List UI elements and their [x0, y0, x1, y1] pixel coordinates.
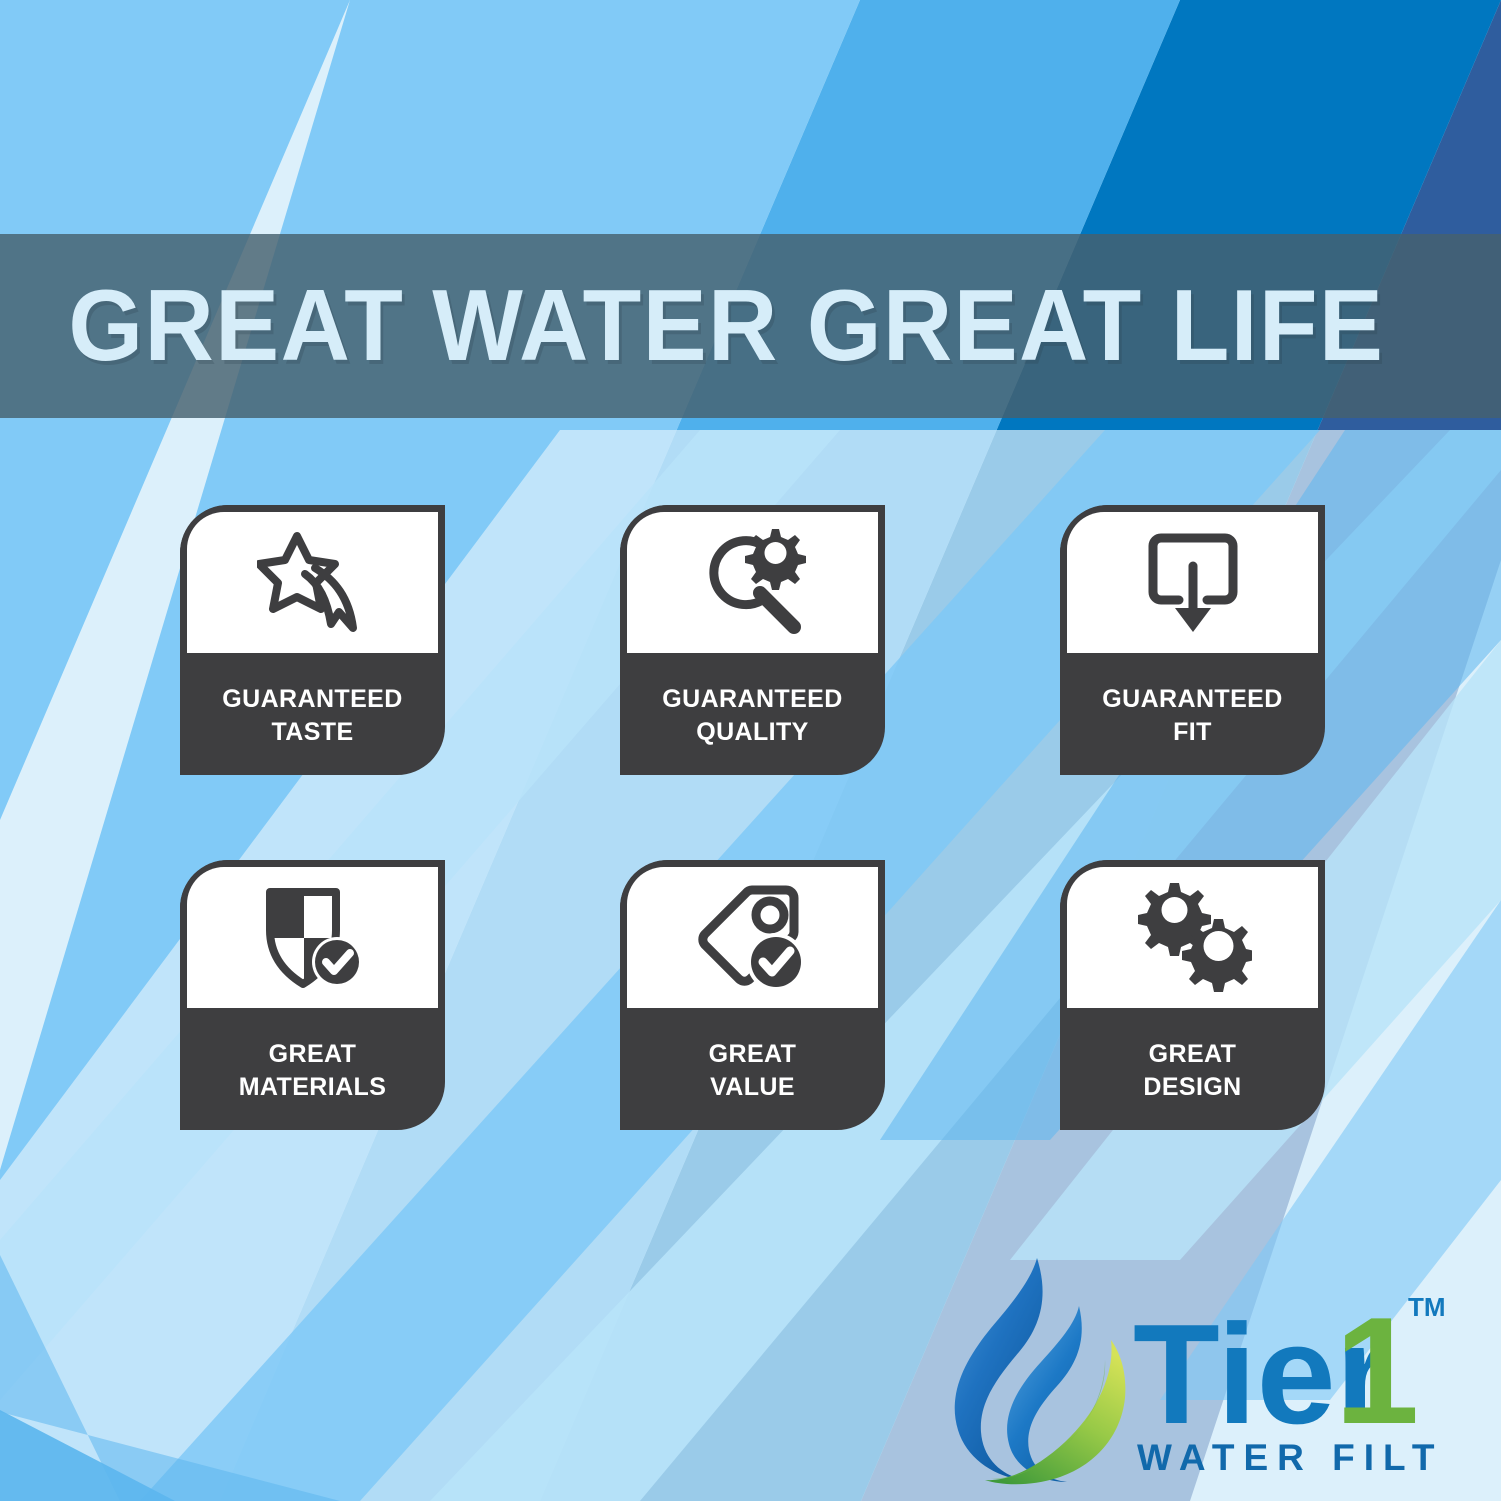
- logo-trademark: TM: [1408, 1292, 1445, 1322]
- feature-card-grid: GUARANTEED TASTE: [180, 505, 1345, 1130]
- feature-card-guaranteed-quality[interactable]: GUARANTEED QUALITY: [620, 505, 885, 775]
- feature-card-guaranteed-taste[interactable]: GUARANTEED TASTE: [180, 505, 445, 775]
- logo-wordmark: Tier 1 TM WATER FILTERS: [1133, 1286, 1445, 1478]
- card-label-line1: GUARANTEED: [222, 685, 402, 715]
- card-label-line1: GREAT: [1149, 1040, 1237, 1070]
- card-label: GUARANTEED FIT: [1060, 657, 1325, 775]
- insert-fit-arrow-icon: [1143, 528, 1243, 638]
- card-icon-area: [180, 860, 445, 1008]
- card-label-line2: TASTE: [271, 718, 353, 748]
- price-tag-check-icon: [694, 882, 812, 994]
- card-label: GREAT MATERIALS: [180, 1012, 445, 1130]
- logo-brand-number: 1: [1335, 1286, 1420, 1456]
- card-label-line2: DESIGN: [1143, 1073, 1241, 1103]
- card-icon-area: [1060, 505, 1325, 653]
- feature-card-great-design[interactable]: GREAT DESIGN: [1060, 860, 1325, 1130]
- card-label: GUARANTEED QUALITY: [620, 657, 885, 775]
- tier1-logo[interactable]: Tier 1 TM WATER FILTERS: [945, 1248, 1445, 1493]
- card-label-line2: MATERIALS: [239, 1073, 387, 1103]
- card-icon-area: [620, 505, 885, 653]
- poster-canvas: GREAT WATER GREAT LIFE GUARANTEED TASTE: [0, 0, 1501, 1501]
- card-label-line1: GREAT: [709, 1040, 797, 1070]
- card-label-line1: GREAT: [269, 1040, 357, 1070]
- feature-card-great-materials[interactable]: GREAT MATERIALS: [180, 860, 445, 1130]
- logo-tagline: WATER FILTERS: [1137, 1437, 1445, 1478]
- headline-band: GREAT WATER GREAT LIFE: [0, 234, 1501, 418]
- shooting-star-icon: [257, 528, 369, 638]
- flame-leaf-mark: [955, 1258, 1126, 1484]
- card-icon-area: [180, 505, 445, 653]
- magnifier-gear-icon: [694, 527, 812, 639]
- card-label-line2: FIT: [1173, 718, 1212, 748]
- card-label-line2: QUALITY: [696, 718, 809, 748]
- shield-check-icon: [258, 882, 368, 994]
- card-label: GUARANTEED TASTE: [180, 657, 445, 775]
- feature-card-guaranteed-fit[interactable]: GUARANTEED FIT: [1060, 505, 1325, 775]
- card-label-line1: GUARANTEED: [662, 685, 842, 715]
- card-label: GREAT DESIGN: [1060, 1012, 1325, 1130]
- card-label: GREAT VALUE: [620, 1012, 885, 1130]
- feature-card-great-value[interactable]: GREAT VALUE: [620, 860, 885, 1130]
- page-title: GREAT WATER GREAT LIFE: [0, 276, 1384, 377]
- card-label-line2: VALUE: [710, 1073, 795, 1103]
- card-icon-area: [620, 860, 885, 1008]
- card-label-line1: GUARANTEED: [1102, 685, 1282, 715]
- two-gears-icon: [1134, 881, 1252, 995]
- card-icon-area: [1060, 860, 1325, 1008]
